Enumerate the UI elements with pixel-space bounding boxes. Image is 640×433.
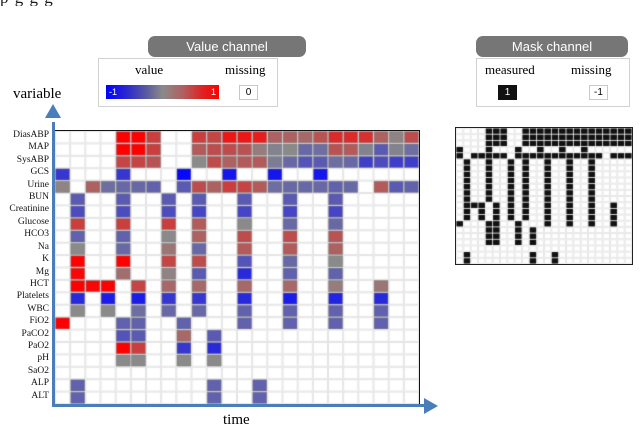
variable-label: Creatinine [9, 203, 49, 215]
variable-label: ALP [31, 377, 49, 389]
variable-label: Platelets [17, 290, 49, 302]
mask-channel-title: Mask channel [476, 36, 628, 57]
x-axis-label: time [223, 412, 250, 429]
variable-label: SysABP [17, 154, 49, 166]
variable-label: FiO2 [29, 315, 49, 327]
variable-label: WBC [27, 303, 49, 315]
y-axis-arrow-icon [45, 104, 61, 118]
mask-legend-measured-label: measured [485, 62, 535, 78]
variable-label: Glucose [18, 216, 49, 228]
colorbar-max-label: 1 [211, 86, 216, 98]
mask-heatmap-canvas [456, 128, 632, 264]
variable-label: BUN [29, 191, 49, 203]
mask-channel-heatmap[interactable] [455, 127, 633, 265]
value-channel-heatmap[interactable] [55, 130, 420, 404]
variable-label: ALT [31, 390, 49, 402]
variable-label: PaO2 [28, 340, 49, 352]
variable-label: PaCO2 [22, 328, 49, 340]
value-legend-value-label: value [135, 62, 163, 78]
variable-label: SaO2 [28, 365, 49, 377]
variable-label: DiasABP [13, 129, 49, 141]
variable-label: HCT [30, 278, 49, 290]
mask-channel-legend: measured missing 1 -1 [476, 58, 630, 107]
variable-label: MAP [28, 141, 49, 153]
variable-label: K [42, 253, 49, 265]
variable-label: HCO3 [24, 228, 49, 240]
variable-label: Urine [27, 179, 49, 191]
mask-legend-missing-label: missing [571, 62, 611, 78]
variable-label: Mg [36, 266, 49, 278]
y-axis-label: variable [13, 86, 61, 103]
clipped-caption-text: p g g g [0, 0, 640, 6]
value-channel-title: Value channel [148, 36, 306, 57]
x-axis-line [52, 404, 424, 407]
value-missing-chip: 0 [239, 85, 258, 100]
variable-label: pH [37, 352, 49, 364]
variable-label: GCS [31, 166, 49, 178]
variable-label: Na [38, 241, 49, 253]
mask-measured-chip: 1 [498, 85, 517, 100]
colorbar-min-label: -1 [109, 86, 117, 98]
value-heatmap-canvas [55, 131, 419, 404]
mask-missing-chip: -1 [589, 85, 608, 100]
x-axis-arrow-icon [424, 398, 438, 414]
value-colorbar [106, 85, 219, 99]
value-legend-missing-label: missing [225, 62, 265, 78]
value-channel-legend: value missing -1 1 0 [98, 58, 278, 107]
